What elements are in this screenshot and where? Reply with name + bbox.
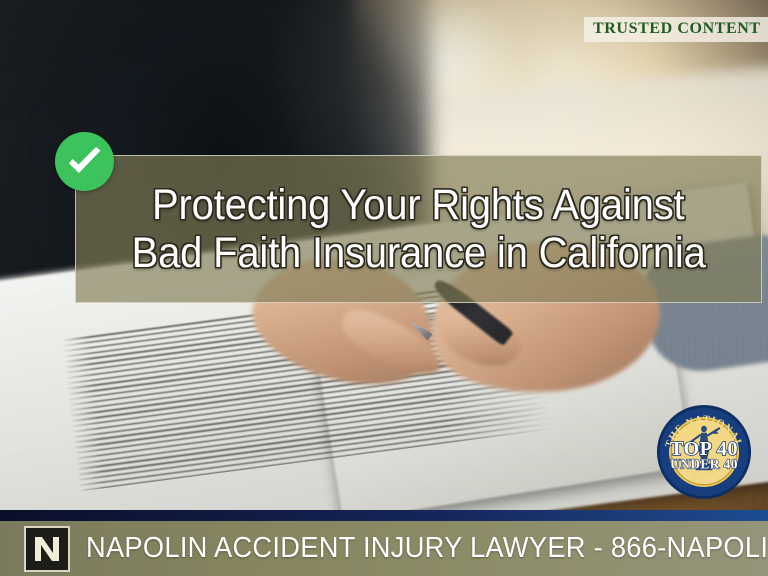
- footer-accent-strip: [0, 510, 768, 521]
- green-check-circle-icon: [55, 132, 114, 191]
- napolin-logo-icon[interactable]: [24, 526, 70, 572]
- graphic-canvas: TRUSTED CONTENT Protecting Your Rights A…: [0, 0, 768, 576]
- headline-panel: Protecting Your Rights Against Bad Faith…: [75, 155, 762, 303]
- svg-text:UNDER 40: UNDER 40: [670, 456, 738, 471]
- trusted-content-badge: TRUSTED CONTENT: [584, 17, 768, 42]
- headline-line-1: Protecting Your Rights Against: [152, 181, 684, 229]
- footer-bar: NAPOLIN ACCIDENT INJURY LAWYER - 866-NAP…: [0, 521, 768, 576]
- footer-brand-text: NAPOLIN ACCIDENT INJURY LAWYER - 866-NAP…: [86, 532, 768, 565]
- top-40-under-40-seal-icon: THE NATIONAL TRIAL LAWYERS TOP 40 UNDER …: [656, 404, 752, 500]
- headline-line-2: Bad Faith Insurance in California: [131, 229, 705, 277]
